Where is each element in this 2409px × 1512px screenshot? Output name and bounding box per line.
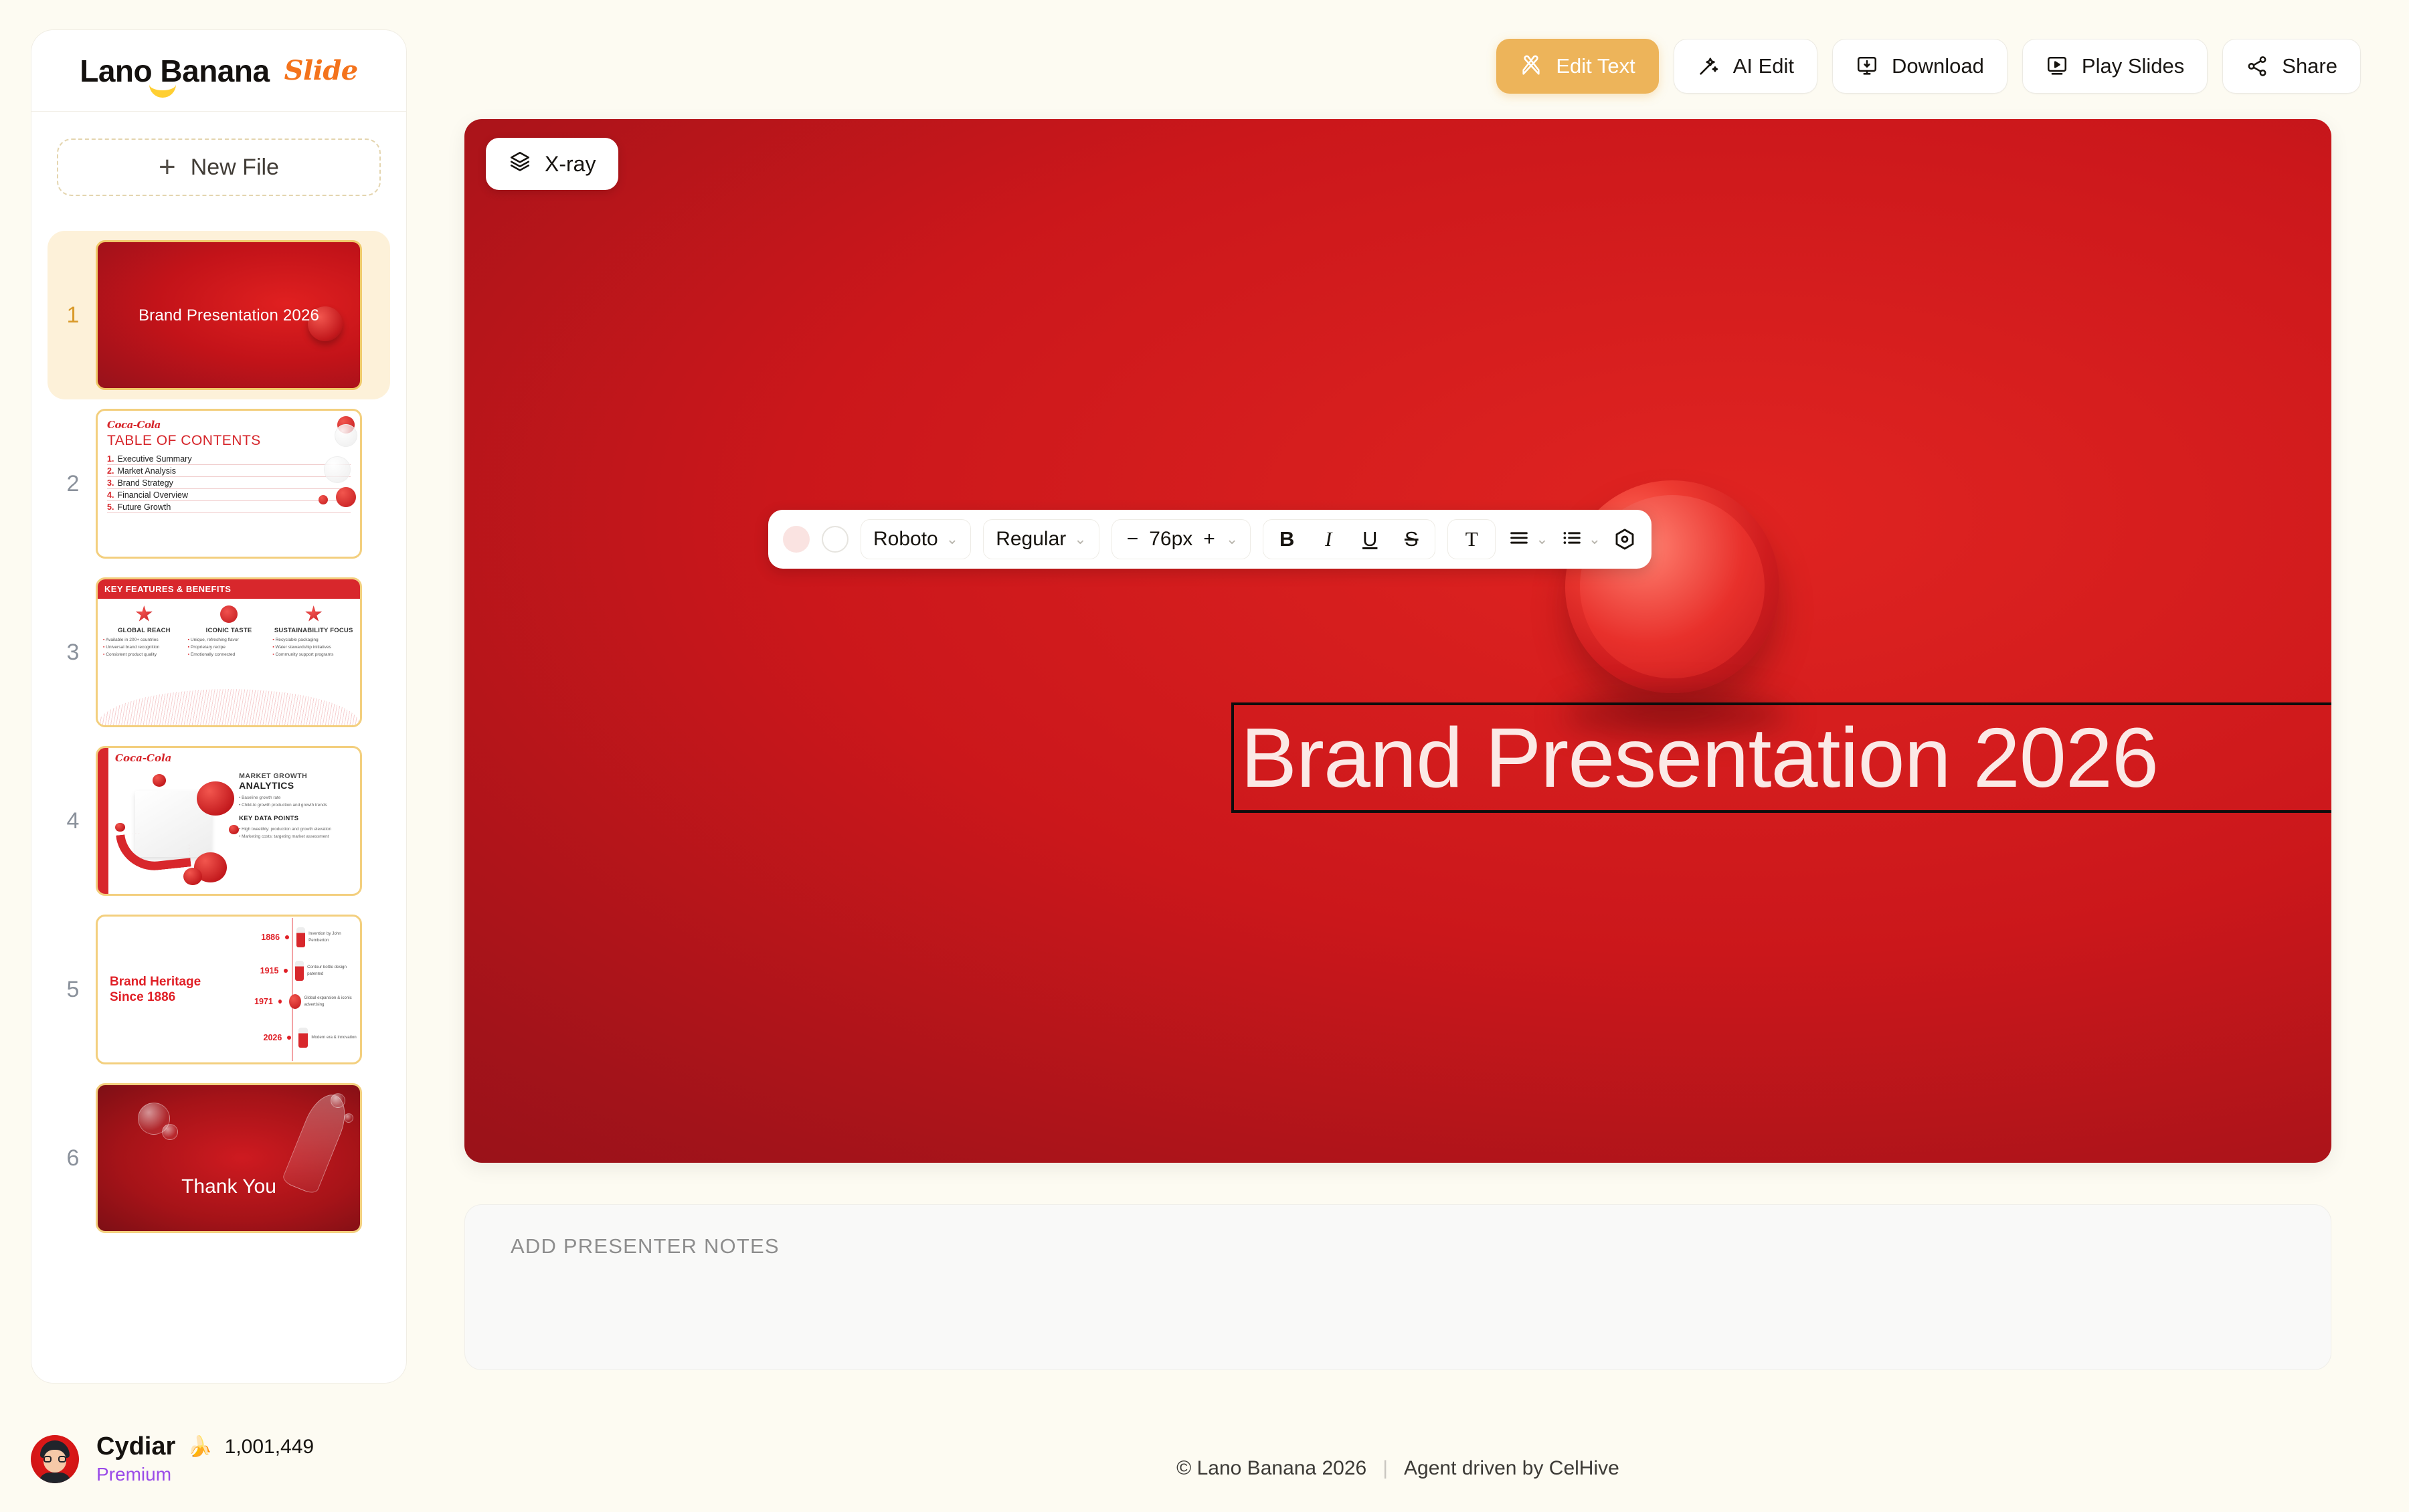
- slide-number: 4: [58, 808, 88, 834]
- slide-number: 2: [58, 471, 88, 497]
- align-left-icon: [1508, 527, 1530, 553]
- share-label: Share: [2282, 54, 2337, 78]
- text-color-swatch[interactable]: [783, 526, 810, 553]
- brand-name: Lano Banana: [80, 53, 269, 89]
- bold-button[interactable]: B: [1271, 523, 1302, 555]
- list-control[interactable]: ⌄: [1560, 527, 1601, 553]
- slide-title-preview: Thank You: [98, 1175, 360, 1198]
- feature-bullets: ▪ Recyclable packaging ▪ Water stewardsh…: [272, 637, 355, 659]
- timeline-label: Contour bottle design patented: [307, 964, 360, 977]
- presenter-notes-placeholder: ADD PRESENTER NOTES: [511, 1234, 2285, 1258]
- ai-edit-button[interactable]: AI Edit: [1674, 39, 1817, 94]
- new-file-label: New File: [191, 155, 279, 181]
- analytics-bullets-bottom: • High tweetihly: production and growth …: [239, 826, 353, 841]
- feature-column: GLOBAL REACH ▪ Available in 200+ countri…: [103, 605, 185, 659]
- banana-smile-icon: [149, 84, 176, 98]
- plus-icon: +: [159, 153, 176, 182]
- slide-thumbnail-5[interactable]: 5 Brand Heritage Since 1886 1886 Inventi…: [31, 905, 406, 1074]
- slide-preview: Brand Presentation 2026: [96, 240, 362, 390]
- bubble-icon: [344, 1113, 353, 1123]
- bullet-list-icon: [1560, 527, 1583, 553]
- slide-thumbnail-list[interactable]: 1 Brand Presentation 2026 2 Coca-Cola TA…: [31, 231, 406, 1383]
- features-columns: GLOBAL REACH ▪ Available in 200+ countri…: [98, 599, 360, 659]
- chevron-down-icon: ⌄: [1589, 532, 1601, 547]
- feature-bullets: ▪ Available in 200+ countries ▪ Universa…: [103, 637, 185, 659]
- agent-credit-text: Agent driven by CelHive: [1404, 1457, 1619, 1480]
- analytics-subheading: KEY DATA POINTS: [239, 815, 353, 822]
- wave-decoration: [98, 689, 360, 725]
- star-badge-icon: [135, 605, 153, 623]
- slide-number: 5: [58, 977, 88, 1003]
- slide-preview: Coca-Cola MARKET GROWTH ANALYTICS: [96, 746, 362, 896]
- share-button[interactable]: Share: [2222, 39, 2361, 94]
- feature-title: GLOBAL REACH: [103, 627, 185, 634]
- chevron-down-icon: ⌄: [1226, 532, 1238, 547]
- timeline-label: Global expansion & iconic advertising: [304, 995, 360, 1008]
- feature-title: SUSTAINABILITY FOCUS: [272, 627, 355, 634]
- timeline-year: 2026: [234, 1033, 282, 1042]
- credit-balance: 1,001,449: [225, 1436, 314, 1458]
- highlight-color-swatch[interactable]: [822, 526, 849, 553]
- strikethrough-button[interactable]: S: [1396, 523, 1427, 555]
- slide-thumbnail-4[interactable]: 4 Coca-Cola MARK: [31, 737, 406, 905]
- sidebar: Lano Banana Slide + New File 1 Brand Pre…: [31, 29, 407, 1384]
- align-control[interactable]: ⌄: [1508, 527, 1548, 553]
- layers-icon: [509, 150, 531, 178]
- user-profile[interactable]: Cydiar 🍌 1,001,449 Premium: [31, 1432, 314, 1485]
- play-slides-button[interactable]: Play Slides: [2022, 39, 2208, 94]
- underline-button[interactable]: U: [1354, 523, 1385, 555]
- banana-icon: 🍌: [187, 1435, 212, 1458]
- analytics-eyebrow: MARKET GROWTH: [239, 772, 353, 780]
- font-weight-select[interactable]: Regular ⌄: [983, 519, 1099, 559]
- edit-text-button[interactable]: Edit Text: [1496, 39, 1658, 94]
- share-icon: [2246, 55, 2268, 78]
- features-bar: KEY FEATURES & BENEFITS: [98, 579, 360, 599]
- brand-logo[interactable]: Lano Banana Slide: [31, 30, 406, 112]
- heritage-timeline: 1886 Invention by John Pemberton 1915 Co…: [234, 917, 360, 1062]
- slide-thumbnail-2[interactable]: 2 Coca-Cola TABLE OF CONTENTS 1.Executiv…: [31, 399, 406, 568]
- slide-preview: Brand Heritage Since 1886 1886 Invention…: [96, 915, 362, 1064]
- analytics-bullets-top: • Baseline growth rate • Child-to growth…: [239, 795, 353, 810]
- chevron-down-icon: ⌄: [1074, 532, 1086, 547]
- chevron-down-icon: ⌄: [946, 532, 958, 547]
- analytics-title: ANALYTICS: [239, 780, 353, 791]
- ai-edit-label: AI Edit: [1733, 54, 1794, 78]
- magic-wand-icon: [1697, 55, 1720, 78]
- timeline-year: 1915: [234, 966, 279, 975]
- heritage-heading: Brand Heritage Since 1886: [98, 974, 234, 1005]
- xray-label: X-ray: [545, 152, 596, 177]
- font-size-value: 76px: [1149, 528, 1192, 551]
- star-badge-icon: [305, 605, 323, 623]
- text-format-toolbar: Roboto ⌄ Regular ⌄ − 76px + ⌄ B I U S T …: [768, 510, 1652, 569]
- avatar[interactable]: [31, 1435, 79, 1483]
- red-rail: [98, 748, 108, 894]
- font-size-increase-button[interactable]: +: [1200, 528, 1218, 551]
- font-weight-value: Regular: [996, 528, 1066, 551]
- timeline-label: Modern era & innovation: [311, 1034, 356, 1041]
- feature-bullets: ▪ Unique, refreshing flavor ▪ Proprietar…: [188, 637, 270, 659]
- brand-name-text: Lano Banana: [80, 54, 269, 88]
- slide-preview: KEY FEATURES & BENEFITS GLOBAL REACH ▪ A…: [96, 577, 362, 727]
- text-selection-box[interactable]: Brand Presentation 2026: [1231, 702, 2331, 813]
- new-file-button[interactable]: + New File: [57, 138, 381, 196]
- download-button[interactable]: Download: [1832, 39, 2007, 94]
- text-style-group: B I U S: [1263, 519, 1435, 559]
- italic-button[interactable]: I: [1313, 523, 1344, 555]
- presenter-notes-input[interactable]: ADD PRESENTER NOTES: [464, 1204, 2331, 1370]
- settings-hex-icon[interactable]: [1613, 527, 1637, 551]
- brand-suffix: Slide: [284, 55, 358, 86]
- slide-preview: Coca-Cola TABLE OF CONTENTS 1.Executive …: [96, 409, 362, 559]
- xray-button[interactable]: X-ray: [486, 138, 618, 190]
- play-slides-icon: [2046, 55, 2068, 78]
- text-style-box[interactable]: T: [1447, 519, 1496, 559]
- slide-preview: Thank You: [96, 1083, 362, 1233]
- analytics-illustration: [115, 772, 239, 887]
- slide-thumbnail-3[interactable]: 3 KEY FEATURES & BENEFITS GLOBAL REACH ▪…: [31, 568, 406, 737]
- play-slides-label: Play Slides: [2082, 54, 2184, 78]
- seal-badge-icon: [220, 605, 238, 623]
- slide-number: 3: [58, 640, 88, 666]
- feature-column: SUSTAINABILITY FOCUS ▪ Recyclable packag…: [272, 605, 355, 659]
- download-icon: [1856, 55, 1878, 78]
- user-name: Cydiar: [96, 1432, 175, 1461]
- font-size-stepper[interactable]: − 76px + ⌄: [1111, 519, 1251, 559]
- timeline-year: 1971: [234, 997, 273, 1006]
- font-family-value: Roboto: [873, 528, 938, 551]
- edit-text-label: Edit Text: [1556, 54, 1635, 78]
- plan-badge: Premium: [96, 1464, 314, 1485]
- download-label: Download: [1892, 54, 1984, 78]
- footer: © Lano Banana 2026 | Agent driven by Cel…: [464, 1457, 2331, 1480]
- slide-number: 6: [58, 1145, 88, 1171]
- bubble-icon: [162, 1124, 178, 1140]
- feature-title: ICONIC TASTE: [188, 627, 270, 634]
- edit-text-icon: [1520, 55, 1542, 78]
- slide-number: 1: [58, 302, 88, 328]
- slide-thumbnail-6[interactable]: 6 Thank You: [31, 1074, 406, 1242]
- copyright-text: © Lano Banana 2026: [1176, 1457, 1366, 1480]
- coca-cola-logo: Coca-Cola: [115, 752, 171, 764]
- slide-canvas[interactable]: X-ray Brand Presentation 2026: [464, 119, 2331, 1163]
- chevron-down-icon: ⌄: [1536, 532, 1548, 547]
- font-family-select[interactable]: Roboto ⌄: [861, 519, 971, 559]
- slide-title-preview: Brand Presentation 2026: [98, 306, 360, 325]
- feature-column: ICONIC TASTE ▪ Unique, refreshing flavor…: [188, 605, 270, 659]
- slide-thumbnail-1[interactable]: 1 Brand Presentation 2026: [48, 231, 390, 399]
- decorative-spheres: [284, 415, 357, 549]
- font-size-decrease-button[interactable]: −: [1124, 528, 1142, 551]
- timeline-label: Invention by John Pemberton: [308, 931, 360, 944]
- timeline-year: 1886: [234, 933, 280, 942]
- footer-separator: |: [1382, 1457, 1388, 1480]
- text-style-button[interactable]: T: [1456, 523, 1487, 555]
- top-toolbar: Edit Text AI Edit Download Play Slides: [1496, 39, 2361, 94]
- slide-title-text[interactable]: Brand Presentation 2026: [1234, 716, 2158, 800]
